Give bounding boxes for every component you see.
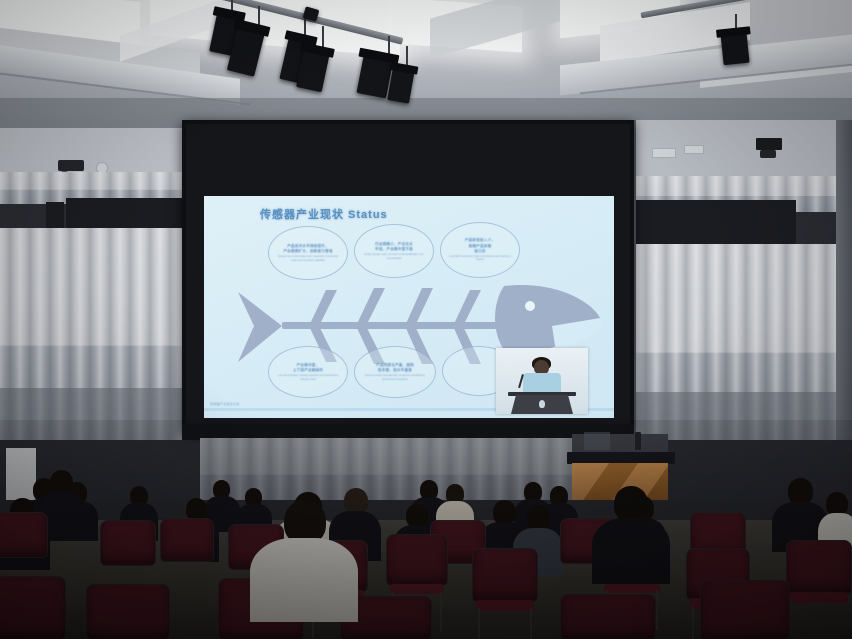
chair — [160, 518, 214, 562]
bubble-en: Low concentration, missing upstream and … — [277, 374, 339, 381]
bubble-en: Steady rise in technology level, expansi… — [277, 255, 339, 262]
chair — [786, 540, 852, 594]
wall-vent-right-2 — [684, 145, 704, 154]
fishbone-bubble-top-3: 产品研发投入少， 高端产品依赖 进口多 Low R&D investment, … — [440, 222, 520, 278]
bubble-en: Serious product homogeneity, structural … — [363, 374, 427, 381]
fishbone-bubble-top-2: 行业规模小，产业化水 平低，产业集中度不高 Small industry sca… — [354, 224, 434, 278]
projector-left — [58, 160, 84, 171]
bubble-zh-line3: 进口多 — [474, 249, 485, 254]
chair — [560, 594, 656, 639]
chair — [100, 520, 156, 566]
podium-monitor — [584, 432, 610, 450]
wall-vent-right — [652, 148, 676, 158]
projector-right — [760, 150, 776, 158]
pip-speaker-video — [496, 348, 588, 414]
bubble-zh-line2: 上下游产业链缺失 — [293, 368, 323, 373]
pip-podium-emblem — [539, 400, 545, 408]
bubble-en: Low R&D investment, high-end products re… — [449, 255, 511, 262]
fishbone-bubble-bottom-1: 产业集中度、 上下游产业链缺失 Low concentration, missi… — [268, 346, 348, 398]
slide-title: 传感器产业现状 Status — [260, 206, 388, 222]
curtain-band-right — [636, 392, 852, 440]
chair — [86, 584, 170, 639]
slide-footer-text: 传感器产业现状分析 — [210, 402, 240, 406]
dark-recess-left — [66, 198, 184, 230]
chair — [472, 548, 538, 602]
audience-person-podium-front — [596, 486, 666, 582]
bubble-en: Small industry scale, low level of indus… — [363, 253, 425, 260]
wall-speaker-right — [756, 138, 782, 150]
chair — [386, 534, 448, 586]
dark-recess-right — [636, 200, 796, 246]
presentation-slide: 传感器产业现状 Status — [204, 196, 614, 418]
fishbone-bubble-top-1: 产品技术水平持续提升， 产业规模扩大，创新能力增强 Steady rise in… — [268, 226, 348, 280]
audience-person-foreground — [256, 500, 352, 620]
chair — [0, 576, 66, 639]
curtain-band-left — [0, 388, 200, 440]
fishbone-bubble-bottom-2: 产品同质化严重，结构 性矛盾、低水平重复 Serious product hom… — [354, 346, 436, 398]
stage-light-7 — [720, 31, 749, 66]
wall-pillar-right — [836, 120, 852, 440]
water-bottle — [635, 432, 641, 450]
bubble-zh-line2: 产业规模扩大，创新能力增强 — [283, 249, 332, 254]
bubble-zh-line2: 平低，产业集中度不高 — [375, 247, 413, 252]
bubble-zh-line2: 性矛盾、低水平重复 — [378, 368, 412, 373]
chair — [700, 580, 790, 639]
conference-hall-photo: 传感器产业现状 Status — [0, 0, 852, 639]
chair — [0, 512, 48, 558]
